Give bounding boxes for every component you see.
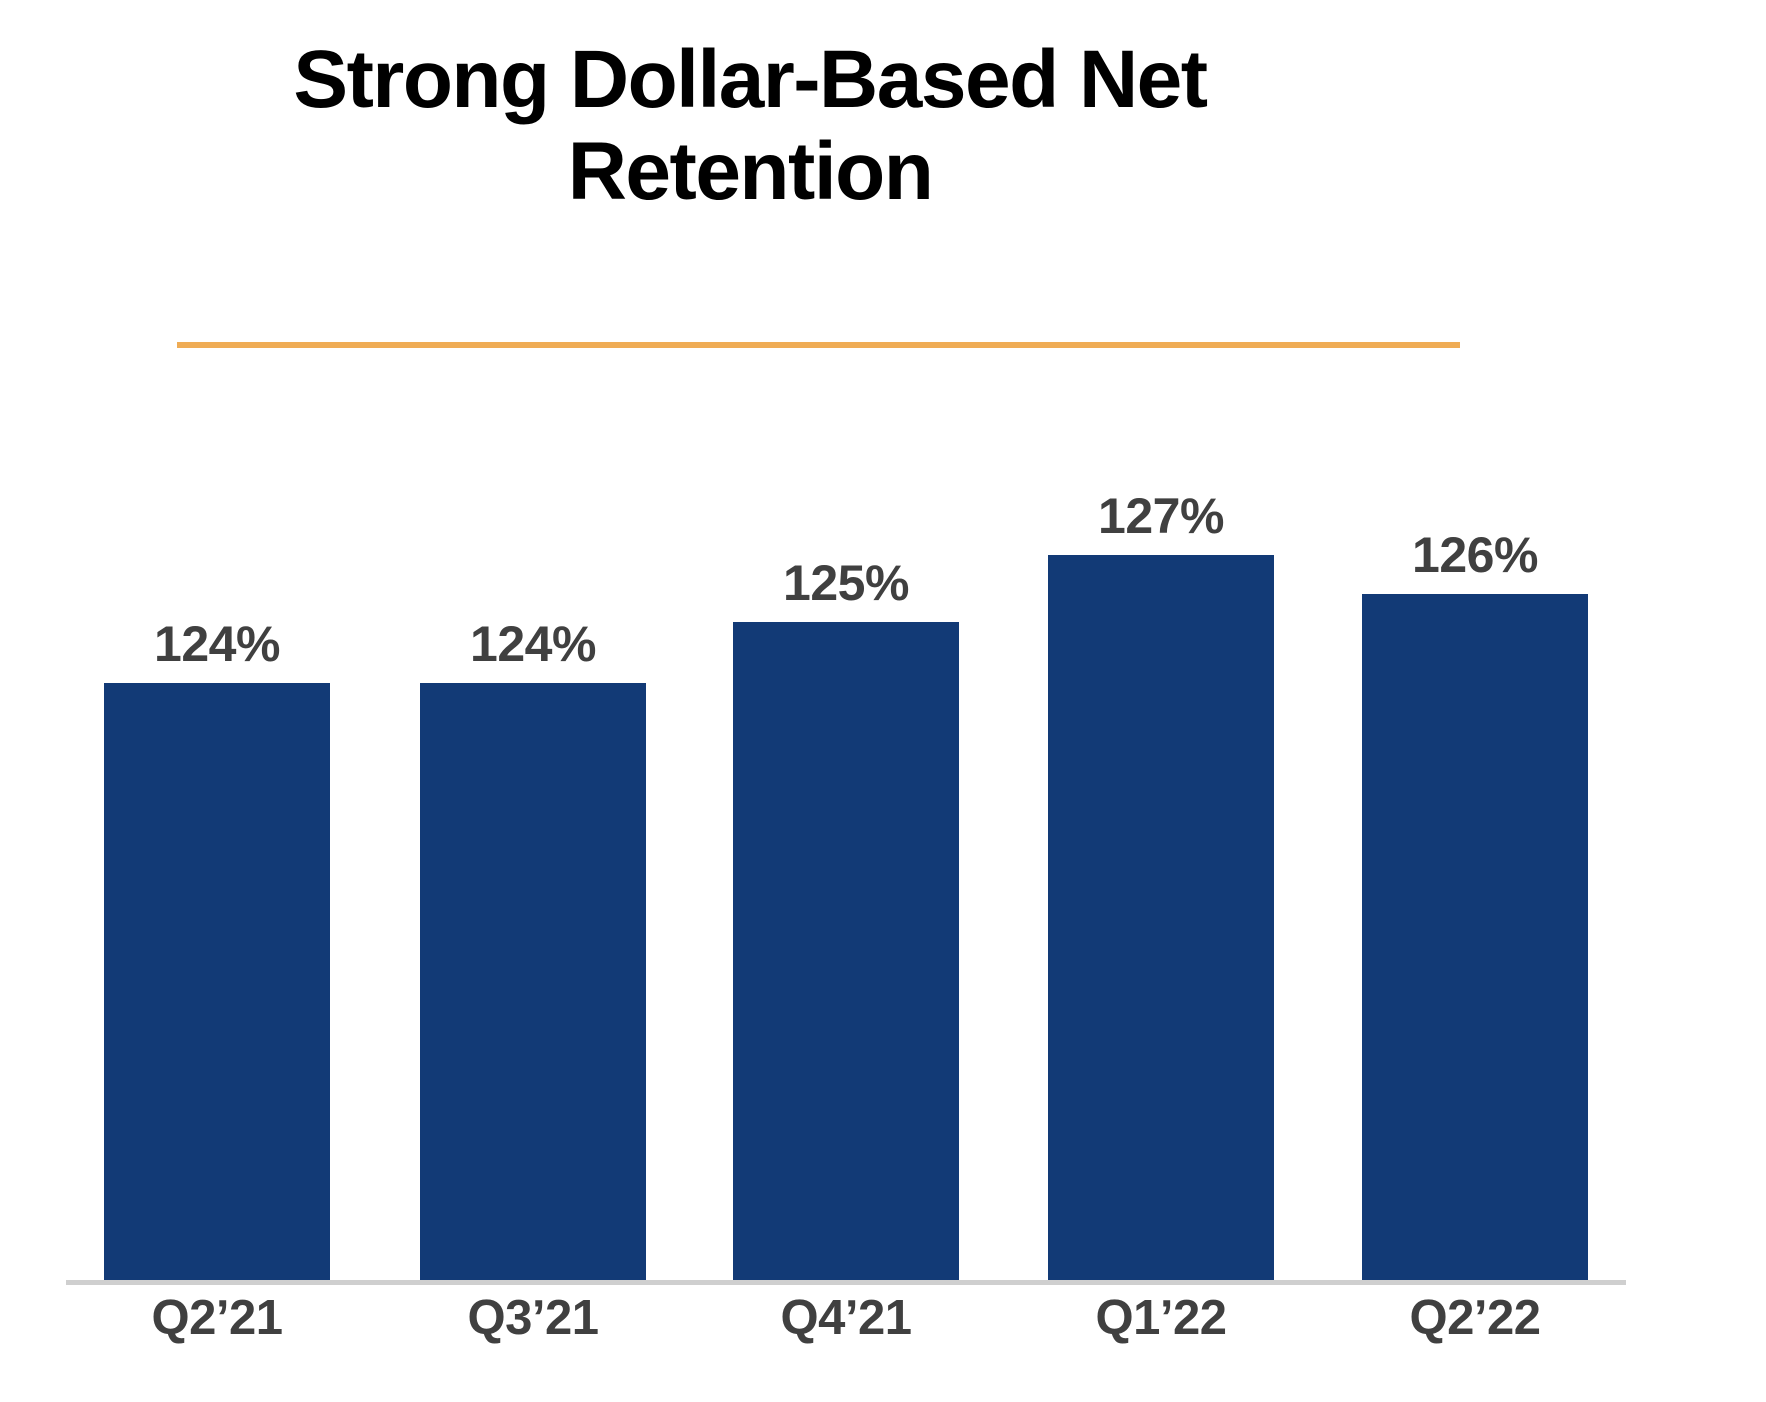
bar-category-label: Q3’21 [420,1290,646,1346]
bar-value-label: 124% [104,615,330,673]
bar-rect[interactable] [1048,555,1274,1280]
bar-value-label: 127% [1048,487,1274,545]
bar-category-label: Q1’22 [1048,1290,1274,1346]
bar-chart: 124% Q2’21 124% Q3’21 125% Q4’21 127% Q1… [0,0,1766,1402]
bar-group-5[interactable]: 126% Q2’22 [1362,0,1588,1402]
bar-group-4[interactable]: 127% Q1’22 [1048,0,1274,1402]
bar-value-label: 124% [420,615,646,673]
bar-group-1[interactable]: 124% Q2’21 [104,0,330,1402]
bar-rect[interactable] [104,683,330,1280]
bar-rect[interactable] [420,683,646,1280]
bar-group-3[interactable]: 125% Q4’21 [733,0,959,1402]
bar-category-label: Q2’21 [104,1290,330,1346]
bar-rect[interactable] [733,622,959,1280]
slide-canvas: Strong Dollar-Based Net Retention 124% Q… [0,0,1766,1402]
bar-group-2[interactable]: 124% Q3’21 [420,0,646,1402]
bar-value-label: 125% [733,554,959,612]
bar-value-label: 126% [1362,526,1588,584]
bar-category-label: Q4’21 [733,1290,959,1346]
axis-baseline [66,1280,1626,1285]
bar-rect[interactable] [1362,594,1588,1280]
bar-category-label: Q2’22 [1362,1290,1588,1346]
